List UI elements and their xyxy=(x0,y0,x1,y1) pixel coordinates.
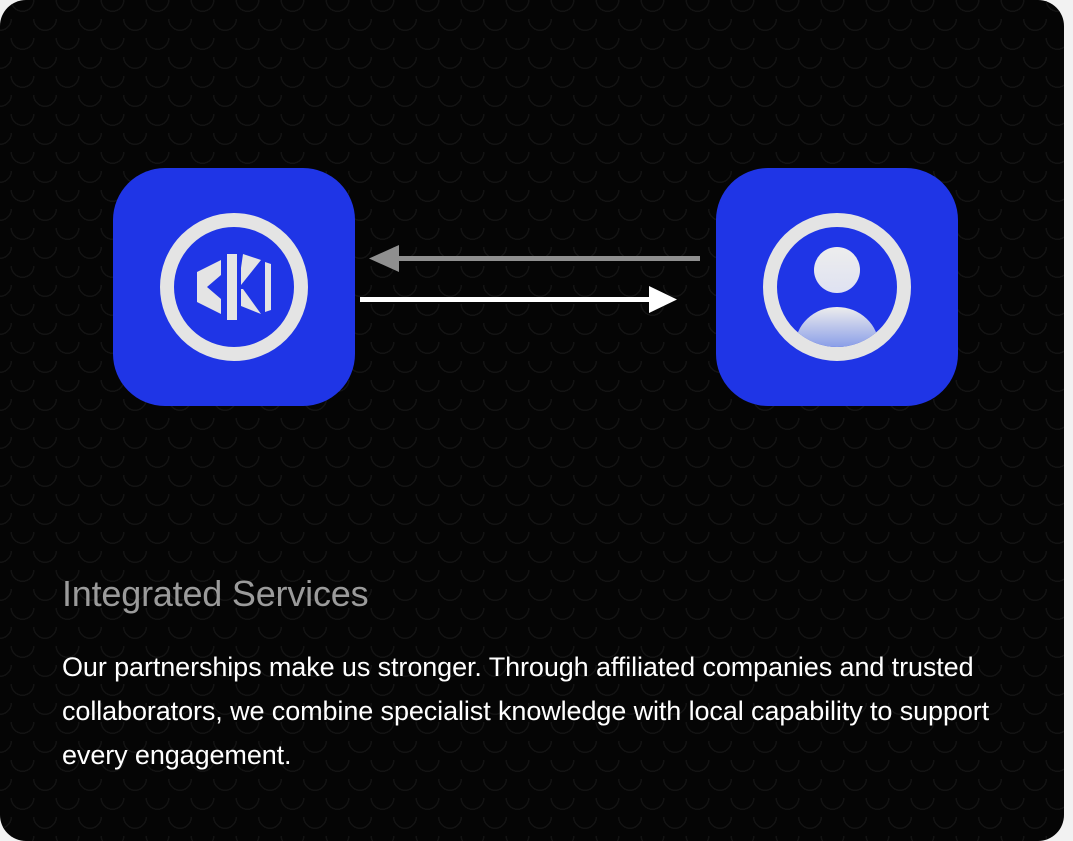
integrated-services-card: Integrated Services Our partnerships mak… xyxy=(0,0,1064,841)
arrow-right-to-left xyxy=(369,245,700,272)
card-text-block: Integrated Services Our partnerships mak… xyxy=(62,572,992,777)
brand-logomark-icon xyxy=(191,250,277,324)
brand-ring xyxy=(160,213,308,361)
card-description: Our partnerships make us stronger. Throu… xyxy=(62,645,992,777)
arrow-left-to-right xyxy=(360,286,677,313)
brand-node-tile[interactable] xyxy=(113,168,355,406)
user-node-tile[interactable] xyxy=(716,168,958,406)
avatar-ring xyxy=(763,213,911,361)
integration-diagram xyxy=(0,0,1064,520)
connector-arrows xyxy=(355,235,705,325)
user-avatar-icon xyxy=(777,227,897,347)
page-title: Integrated Services xyxy=(62,572,992,615)
